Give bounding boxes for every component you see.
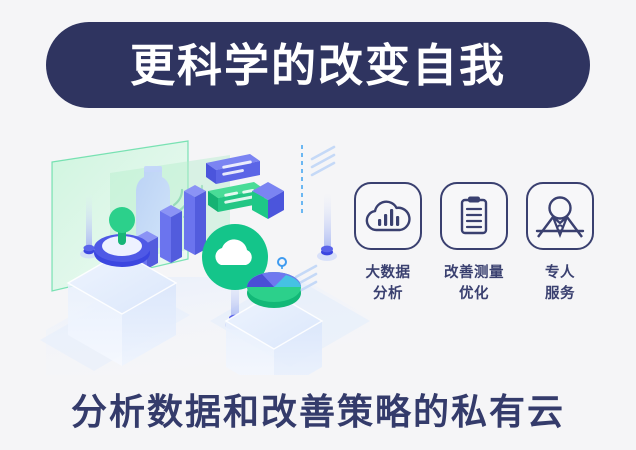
feature-label-line2: 优化 <box>444 284 504 305</box>
feature-label-support: 专人 服务 <box>545 263 575 304</box>
glass-pin-marker-right <box>317 193 337 261</box>
feature-item-measurement[interactable]: 改善测量 优化 <box>438 182 510 332</box>
support-agent-icon <box>526 182 594 250</box>
feature-label-line1: 改善测量 <box>444 263 504 284</box>
feature-item-support[interactable]: 专人 服务 <box>524 182 596 332</box>
title-banner: 更科学的改变自我 <box>46 22 590 108</box>
hero-illustration <box>40 125 370 375</box>
feature-label-line2: 服务 <box>545 284 575 305</box>
pie-chart-marker <box>247 272 301 308</box>
page-title: 更科学的改变自我 <box>130 43 506 88</box>
feature-label-line1: 专人 <box>545 263 575 284</box>
poster-canvas: 更科学的改变自我 <box>0 0 636 450</box>
feature-label-line2: 分析 <box>366 284 411 305</box>
clipboard-icon <box>440 182 508 250</box>
page-tagline: 分析数据和改善策略的私有云 <box>0 383 636 435</box>
dashed-line-node <box>278 258 286 266</box>
feature-item-big-data[interactable]: 大数据 分析 <box>352 182 424 332</box>
feature-label-big-data: 大数据 分析 <box>366 263 411 304</box>
feature-label-measurement: 改善测量 优化 <box>444 263 504 304</box>
feature-list: 大数据 分析 改善测量 优化 <box>352 182 596 332</box>
cloud-bar-chart-icon <box>354 182 422 250</box>
feature-label-line1: 大数据 <box>366 263 411 284</box>
